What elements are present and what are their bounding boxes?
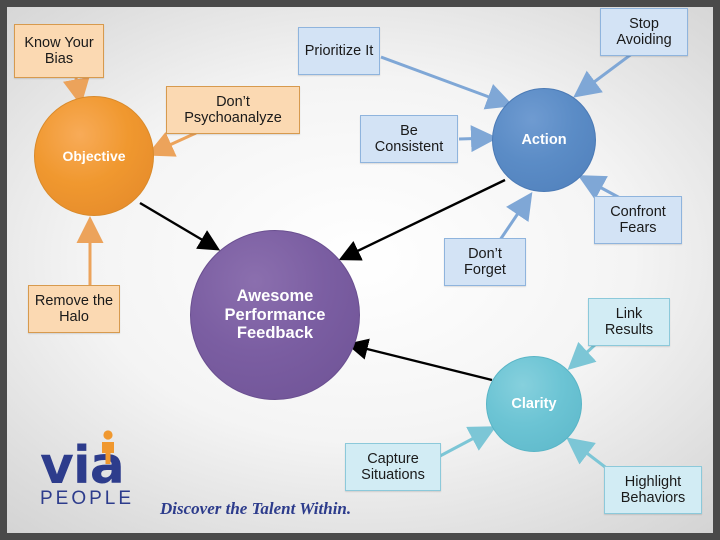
label-prioritize-it-line-1: Prioritize [305,43,361,59]
connector-clarity-to-center [351,345,492,380]
label-stop-avoiding[interactable]: Stop Avoiding [600,8,688,56]
label-remove-the-halo-line-1: Remove [35,293,89,309]
via-people-logo: via PEOPLE [40,440,134,510]
label-be-consistent-line-1: Be [400,123,418,139]
connector-dont-forget [500,197,529,240]
connector-dont-psychoanalyze [152,133,196,153]
label-capture-situations[interactable]: Capture Situations [345,443,441,491]
label-confront-fears-line-2: Fears [619,220,656,236]
label-capture-situations-line-1: Capture [367,451,419,467]
connector-confront-fears [583,178,620,198]
label-capture-situations-line-2: Situations [361,467,425,483]
label-link-results-line-2: Results [605,322,653,338]
label-dont-psychoanalyze-line-2: Psychoanalyze [184,110,282,126]
label-know-your-bias[interactable]: Know Your Bias [14,24,104,78]
label-dont-forget[interactable]: Don’t Forget [444,238,526,286]
label-highlight-behaviors-line-1: Highlight [625,474,681,490]
node-clarity[interactable]: Clarity [486,356,582,452]
connector-link-results [572,343,597,366]
center-line-3: Feedback [225,324,326,343]
node-awesome-performance-feedback[interactable]: Awesome Performance Feedback [190,230,360,400]
label-confront-fears[interactable]: Confront Fears [594,196,682,244]
logo-wordmark: via [40,440,134,492]
label-dont-psychoanalyze[interactable]: Don’t Psychoanalyze [166,86,300,134]
label-prioritize-it-line-2: It [365,43,373,59]
center-line-2: Performance [225,306,326,325]
node-clarity-label: Clarity [511,396,556,413]
node-action-label: Action [521,132,566,149]
label-highlight-behaviors[interactable]: Highlight Behaviors [604,466,702,514]
label-dont-forget-line-1: Don’t [468,246,502,262]
node-objective-label: Objective [62,148,125,164]
label-link-results-line-1: Link [616,306,643,322]
center-line-1: Awesome [225,287,326,306]
connector-prioritize-it [381,57,508,104]
connector-objective-to-center [140,203,216,248]
label-be-consistent[interactable]: Be Consistent [360,115,458,163]
label-dont-psychoanalyze-line-1: Don’t [216,94,250,110]
label-confront-fears-line-1: Confront [610,204,666,220]
node-objective[interactable]: Objective [34,96,154,216]
label-know-your-bias-line-1: Know [24,35,60,51]
person-icon [98,430,118,466]
label-highlight-behaviors-line-2: Behaviors [621,490,685,506]
logo-subtext: PEOPLE [40,488,134,510]
connector-stop-avoiding [578,50,637,94]
label-prioritize-it[interactable]: Prioritize It [298,27,380,75]
connector-be-consistent [459,138,492,139]
connector-capture-situations [440,429,491,456]
label-dont-forget-line-2: Forget [464,262,506,278]
node-action[interactable]: Action [492,88,596,192]
label-be-consistent-line-2: Consistent [375,139,444,155]
label-link-results[interactable]: Link Results [588,298,670,346]
label-remove-the-halo[interactable]: Remove the Halo [28,285,120,333]
label-stop-avoiding-line-1: Stop [629,16,659,32]
label-stop-avoiding-line-2: Avoiding [616,32,671,48]
slide-canvas: Objective Awesome Performance Feedback A… [0,0,720,540]
logo-tagline: Discover the Talent Within. [160,499,351,519]
